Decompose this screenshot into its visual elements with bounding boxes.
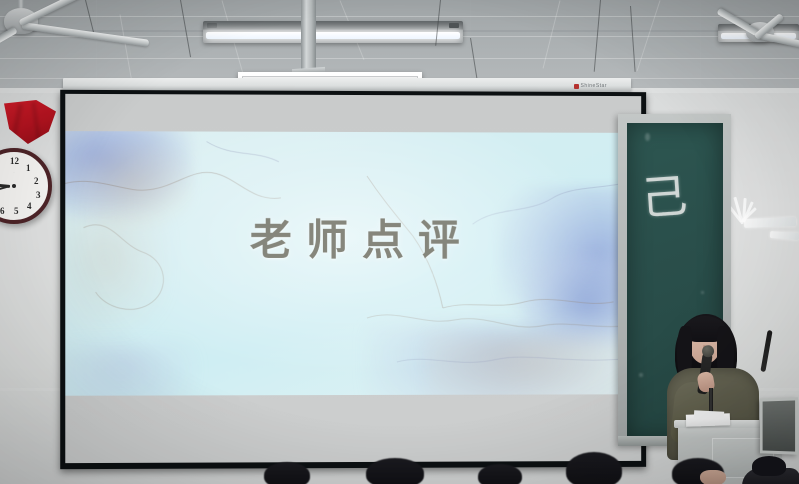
projector-mount-pole xyxy=(301,0,316,72)
ceiling-light-fixture xyxy=(203,21,463,43)
chalkboard-writing: 己 xyxy=(639,159,689,228)
screen-brand-label: ShineStar xyxy=(574,83,607,89)
screen-brand-text: ShineStar xyxy=(581,83,607,89)
clock-numeral: 2 xyxy=(34,176,39,186)
clock-center-pin xyxy=(12,184,16,188)
clock-minute-hand xyxy=(0,185,10,194)
student-head-skin xyxy=(700,470,726,484)
student-head xyxy=(264,462,310,484)
clock-numeral: 4 xyxy=(27,201,32,211)
wall-plastic-burst xyxy=(728,196,758,232)
clock-numeral: 12 xyxy=(10,156,19,166)
podium-monitor xyxy=(760,397,798,454)
projected-slide: 老师点评 xyxy=(65,131,641,396)
student-head xyxy=(366,458,424,484)
slide-title: 老师点评 xyxy=(65,206,641,268)
papers-on-podium-2 xyxy=(694,410,724,420)
clock-brand-mark: · xyxy=(14,170,15,174)
clock-numeral: 5 xyxy=(14,206,19,216)
brand-mark-icon xyxy=(574,84,579,89)
projection-screen: 老师点评 xyxy=(60,90,646,469)
classroom-photo-scene: 12 1 2 3 4 5 6 · ShineStar xyxy=(0,0,799,484)
clock-numeral: 6 xyxy=(0,206,5,216)
student-head xyxy=(478,464,522,484)
clock-numeral: 1 xyxy=(26,163,31,173)
screen-surface: 老师点评 xyxy=(65,94,641,463)
student-head-right xyxy=(752,456,786,476)
clock-numeral: 3 xyxy=(36,190,41,200)
student-head xyxy=(566,452,622,484)
